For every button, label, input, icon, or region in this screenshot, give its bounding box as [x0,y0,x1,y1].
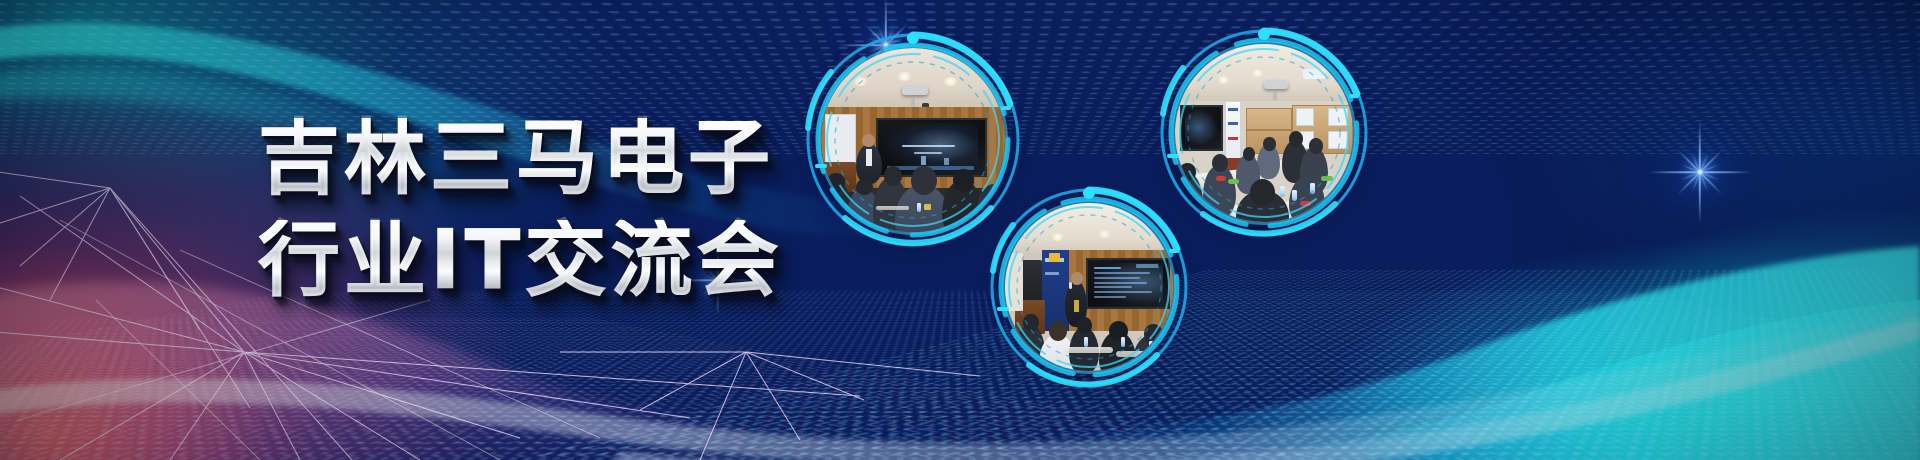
headline-block: 吉林三马电子 行业IT交流会 [258,118,782,302]
headline-line-2: 行业IT交流会 [258,220,782,302]
medallion-2-tech-rings [1159,28,1369,238]
ring-node-dot [1083,187,1095,199]
medallion-speaker-with-microphone[interactable] [989,187,1189,387]
medallion-seminar-roundtable[interactable] [1159,28,1369,238]
medallion-3-tech-rings [989,187,1189,387]
ring-node-dot [1258,28,1270,40]
promotional-banner: 吉林三马电子 行业IT交流会 [0,0,1920,460]
ring-node-dot [907,32,919,44]
headline-line-1: 吉林三马电子 [258,118,782,200]
